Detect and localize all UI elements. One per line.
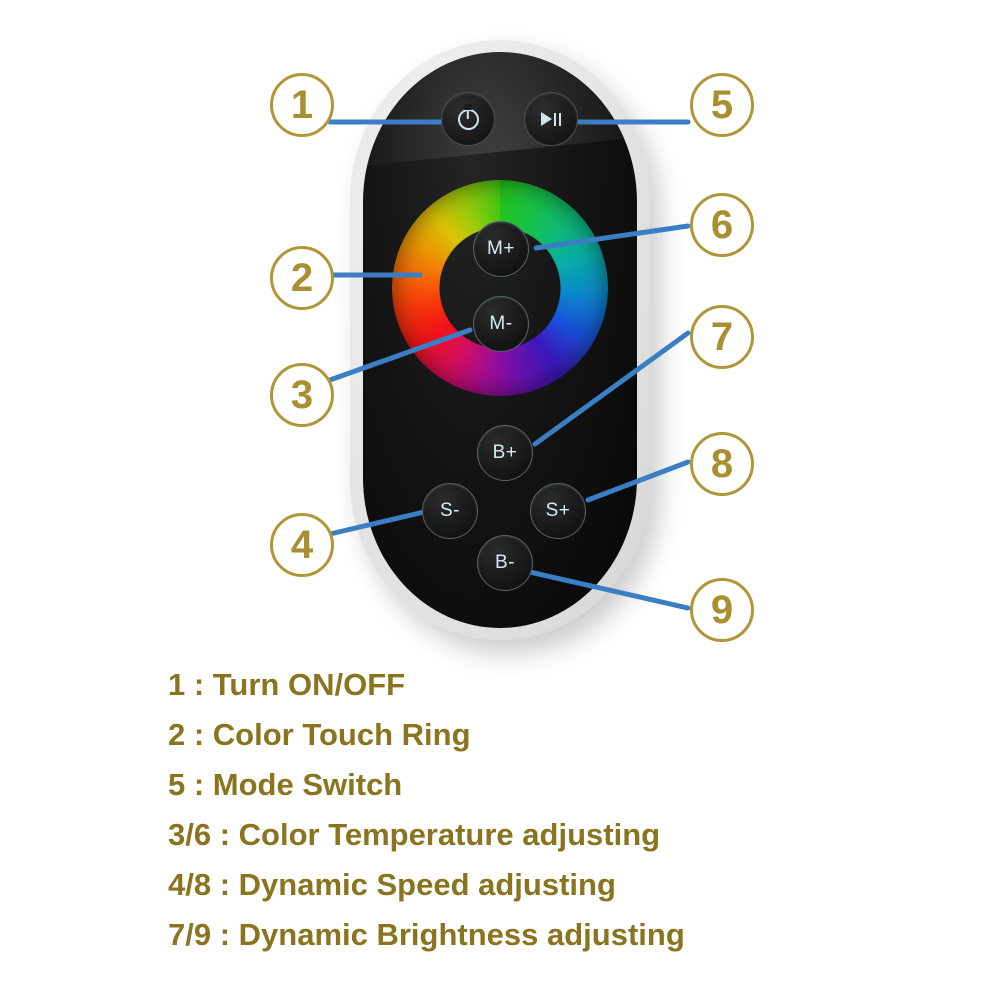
callout-9-number: 9: [711, 588, 733, 633]
callout-8-number: 8: [711, 442, 733, 487]
power-icon: [458, 109, 479, 130]
callout-4-number: 4: [291, 523, 313, 568]
legend-row: 5 : Mode Switch: [168, 760, 868, 810]
speed-minus-button[interactable]: S-: [422, 483, 478, 539]
callout-2: 2: [270, 246, 334, 310]
callout-7: 7: [690, 305, 754, 369]
brightness-plus-button[interactable]: B+: [477, 425, 533, 481]
speed-minus-label: S-: [440, 500, 460, 522]
mode-plus-button[interactable]: M+: [473, 221, 529, 277]
callout-4: 4: [270, 513, 334, 577]
brightness-minus-label: B-: [495, 552, 515, 574]
play-pause-icon: [541, 112, 562, 126]
callout-6: 6: [690, 193, 754, 257]
legend: 1 : Turn ON/OFF 2 : Color Touch Ring 5 :…: [168, 660, 868, 960]
color-touch-ring[interactable]: [392, 180, 608, 396]
speed-plus-label: S+: [546, 500, 571, 522]
callout-2-number: 2: [291, 256, 313, 301]
callout-9: 9: [690, 578, 754, 642]
speed-plus-button[interactable]: S+: [530, 483, 586, 539]
legend-row: 4/8 : Dynamic Speed adjusting: [168, 860, 868, 910]
callout-7-number: 7: [711, 315, 733, 360]
callout-1-number: 1: [291, 83, 313, 128]
legend-row: 3/6 : Color Temperature adjusting: [168, 810, 868, 860]
callout-8: 8: [690, 432, 754, 496]
diagram-canvas: M+ M- B+ S- S+ B- 1 2 3 4 5 6 7 8 9 1 : …: [0, 0, 1000, 1000]
legend-row: 7/9 : Dynamic Brightness adjusting: [168, 910, 868, 960]
callout-5-number: 5: [711, 83, 733, 128]
mode-minus-label: M-: [489, 313, 512, 335]
callout-6-number: 6: [711, 203, 733, 248]
callout-3: 3: [270, 363, 334, 427]
power-button[interactable]: [441, 92, 495, 146]
brightness-minus-button[interactable]: B-: [477, 535, 533, 591]
brightness-plus-label: B+: [493, 442, 518, 464]
legend-row: 2 : Color Touch Ring: [168, 710, 868, 760]
callout-1: 1: [270, 73, 334, 137]
callout-3-number: 3: [291, 373, 313, 418]
mode-switch-button[interactable]: [524, 92, 578, 146]
mode-plus-label: M+: [487, 238, 515, 260]
callout-5: 5: [690, 73, 754, 137]
legend-row: 1 : Turn ON/OFF: [168, 660, 868, 710]
mode-minus-button[interactable]: M-: [473, 296, 529, 352]
